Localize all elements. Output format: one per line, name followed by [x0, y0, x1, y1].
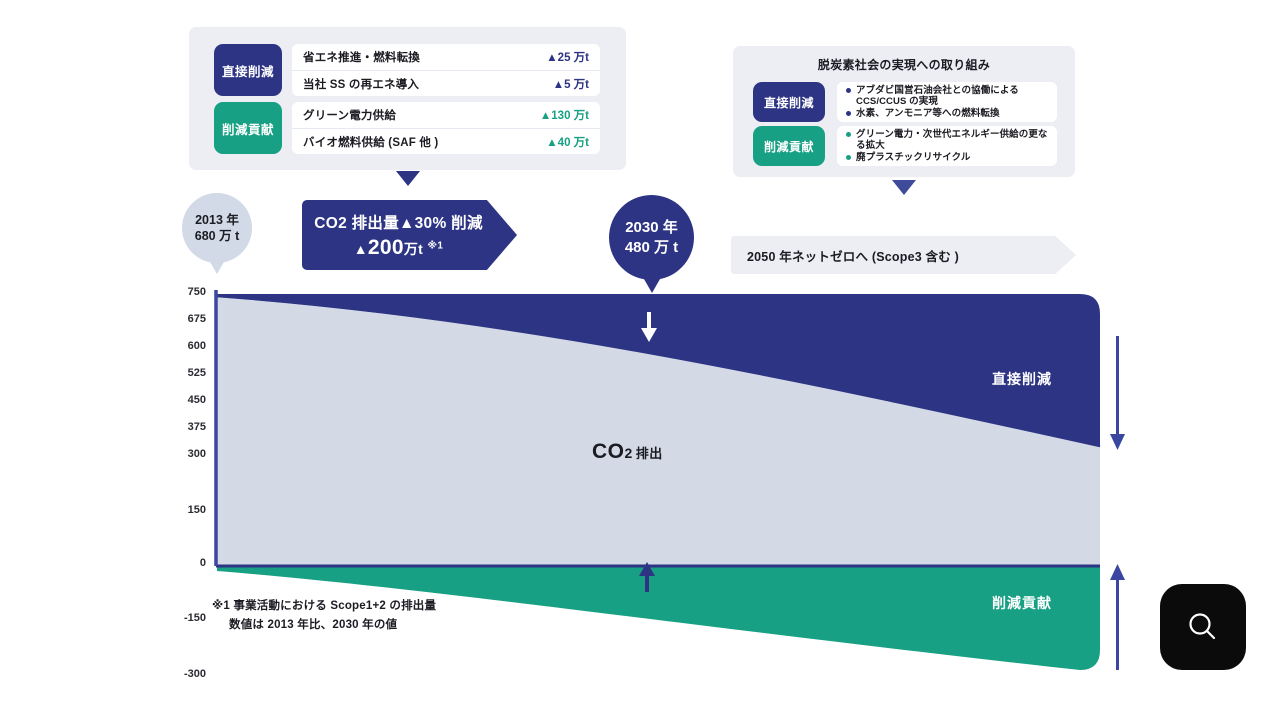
target-unit: 万t	[404, 241, 423, 257]
reduction-contribution-band-label: 削減貢献	[992, 593, 1052, 613]
netzero-banner-label: 2050 年ネットゼロへ (Scope3 含む )	[731, 246, 959, 265]
direct-reduction-band-label: 直接削減	[992, 369, 1052, 389]
netzero-banner: 2050 年ネットゼロへ (Scope3 含む )	[731, 236, 1076, 274]
measures-down-caret-icon	[396, 171, 420, 186]
footnote-line-1: ※1 事業活動における Scope1+2 の排出量	[212, 600, 436, 612]
reduction-contribution-range-arrow-icon	[1110, 564, 1125, 670]
target-year: 2030 年	[625, 218, 678, 238]
initiatives-card-contribution: グリーン電力・次世代エネルギー供給の更なる拡大 廃プラスチックリサイクル	[837, 126, 1057, 166]
infographic-canvas: 750 675 600 525 450 375 300 150 0 -150 -…	[0, 0, 1280, 706]
direct-reduction-range-arrow-icon	[1110, 336, 1125, 450]
baseline-year-bubble: 2013 年 680 万 t	[182, 193, 252, 263]
initiatives-down-caret-icon	[892, 180, 916, 195]
initiatives-panel: 脱炭素社会の実現への取り組み 直接削減 削減貢献 アブダビ国営石油会社との協働に…	[733, 46, 1075, 177]
measure-row: 当社 SS の再エネ導入 ▲5 万t	[292, 70, 600, 96]
initiatives-cards: アブダビ国営石油会社との協働による CCS/CCUS の実現 水素、アンモニア等…	[837, 82, 1057, 166]
initiatives-tag-direct-reduction: 直接削減	[753, 82, 825, 122]
target-year-bubble: 2030 年 480 万 t	[609, 195, 694, 280]
y-tick: 450	[162, 394, 206, 406]
target-amount-line: ▲200万t ※1	[354, 236, 443, 260]
y-tick: 600	[162, 340, 206, 352]
initiatives-panel-title: 脱炭素社会の実現への取り組み	[733, 56, 1075, 73]
measures-tag-reduction-contribution: 削減貢献	[214, 102, 282, 154]
measure-value: ▲25 万t	[546, 49, 589, 65]
initiatives-tag-reduction-contribution: 削減貢献	[753, 126, 825, 166]
chart-footnote: ※1 事業活動における Scope1+2 の排出量 数値は 2013 年比、20…	[212, 597, 436, 635]
initiative-item: グリーン電力・次世代エネルギー供給の更なる拡大	[845, 129, 1049, 152]
measures-group-contribution: グリーン電力供給 ▲130 万t バイオ燃料供給 (SAF 他 ) ▲40 万t	[292, 102, 600, 154]
measures-rows: 省エネ推進・燃料転換 ▲25 万t 当社 SS の再エネ導入 ▲5 万t グリー…	[292, 44, 600, 154]
y-tick: 0	[162, 557, 206, 569]
measure-row: 省エネ推進・燃料転換 ▲25 万t	[292, 44, 600, 70]
y-tick: 750	[162, 286, 206, 298]
measure-label: バイオ燃料供給 (SAF 他 )	[303, 134, 546, 150]
measure-value: ▲5 万t	[553, 76, 589, 92]
initiatives-tag-column: 直接削減 削減貢献	[753, 82, 825, 166]
bubble-tail	[210, 262, 224, 274]
bubble-tail	[644, 279, 660, 293]
target-amount: 200	[368, 236, 404, 259]
initiative-item: アブダビ国営石油会社との協働による CCS/CCUS の実現	[845, 85, 1049, 108]
y-tick: -300	[162, 668, 206, 680]
footnote-line-2: 数値は 2013 年比、2030 年の値	[212, 616, 436, 635]
co2-emission-label: CO2排出	[592, 440, 663, 464]
target-headline: CO2 排出量▲30% 削減	[314, 211, 483, 233]
measure-label: 省エネ推進・燃料転換	[303, 49, 546, 65]
measures-tag-direct-reduction: 直接削減	[214, 44, 282, 96]
initiative-item: 廃プラスチックリサイクル	[845, 152, 1049, 164]
search-icon	[1183, 607, 1223, 647]
initiatives-card-direct: アブダビ国営石油会社との協働による CCS/CCUS の実現 水素、アンモニア等…	[837, 82, 1057, 122]
initiative-item: 水素、アンモニア等への燃料転換	[845, 108, 1049, 120]
measure-row: バイオ燃料供給 (SAF 他 ) ▲40 万t	[292, 128, 600, 154]
search-button[interactable]	[1160, 584, 1246, 670]
y-tick: 675	[162, 313, 206, 325]
co2-label-subscript: 2	[625, 445, 633, 461]
target-footnote-marker: ※1	[427, 240, 443, 251]
measure-label: グリーン電力供給	[303, 107, 540, 123]
measure-value: ▲130 万t	[540, 107, 589, 123]
y-tick: 300	[162, 448, 206, 460]
y-tick: 150	[162, 504, 206, 516]
y-tick: 375	[162, 421, 206, 433]
y-tick: 525	[162, 367, 206, 379]
y-tick: -150	[162, 612, 206, 624]
co2-label-main: CO	[592, 440, 625, 463]
measures-panel: 直接削減 削減貢献 省エネ推進・燃料転換 ▲25 万t 当社 SS の再エネ導入…	[189, 27, 626, 170]
baseline-value: 680 万 t	[195, 228, 239, 244]
measure-label: 当社 SS の再エネ導入	[303, 76, 553, 92]
target-year-value: 480 万 t	[625, 238, 678, 258]
baseline-year: 2013 年	[195, 212, 239, 228]
co2-label-jp: 排出	[636, 446, 663, 461]
measures-tag-column: 直接削減 削減貢献	[214, 44, 282, 154]
measure-row: グリーン電力供給 ▲130 万t	[292, 102, 600, 128]
measure-value: ▲40 万t	[546, 134, 589, 150]
target-reduction-banner: CO2 排出量▲30% 削減 ▲200万t ※1	[302, 200, 517, 270]
measures-group-direct: 省エネ推進・燃料転換 ▲25 万t 当社 SS の再エネ導入 ▲5 万t	[292, 44, 600, 96]
target-prefix: ▲	[354, 241, 368, 257]
